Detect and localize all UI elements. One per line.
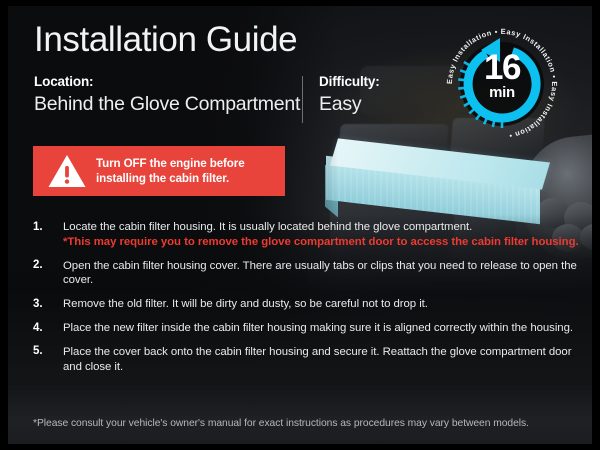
warning-line-2: installing the cabin filter. <box>96 171 245 186</box>
step-text: Locate the cabin filter housing. It is u… <box>63 220 579 235</box>
bottom-sheen <box>8 384 592 444</box>
installation-guide-infographic: Installation Guide Location: Behind the … <box>0 0 600 450</box>
difficulty-value: Easy <box>319 93 380 116</box>
badge-duration-value: 16 <box>440 52 564 84</box>
infographic-canvas: Installation Guide Location: Behind the … <box>8 6 592 444</box>
meta-divider <box>302 76 303 123</box>
instruction-step: 1.Locate the cabin filter housing. It is… <box>33 220 579 250</box>
difficulty-block: Difficulty: Easy <box>319 74 380 116</box>
instruction-step: 5.Place the cover back onto the cabin fi… <box>33 345 579 375</box>
instruction-step: 3.Remove the old filter. It will be dirt… <box>33 297 579 312</box>
step-number: 3. <box>33 297 63 312</box>
header-meta: Location: Behind the Glove Compartment D… <box>34 74 380 123</box>
badge-duration-unit: min <box>440 85 564 100</box>
instruction-steps: 1.Locate the cabin filter housing. It is… <box>33 220 579 384</box>
step-body: Open the cabin filter housing cover. The… <box>63 259 579 289</box>
footer-disclaimer: *Please consult your vehicle's owner's m… <box>33 418 579 429</box>
warning-text: Turn OFF the engine before installing th… <box>96 156 245 187</box>
difficulty-label: Difficulty: <box>319 74 380 89</box>
warning-banner: Turn OFF the engine before installing th… <box>33 146 285 196</box>
step-body: Locate the cabin filter housing. It is u… <box>63 220 579 250</box>
warning-triangle-icon <box>47 153 87 189</box>
step-number: 1. <box>33 220 63 250</box>
location-value: Behind the Glove Compartment <box>34 93 302 116</box>
instruction-step: 2.Open the cabin filter housing cover. T… <box>33 259 579 289</box>
page-header: Installation Guide <box>34 22 334 59</box>
step-number: 2. <box>33 259 63 289</box>
badge-center: 16 min <box>440 52 564 100</box>
step-note: *This may require you to remove the glov… <box>63 235 579 250</box>
step-number: 4. <box>33 321 63 336</box>
location-block: Location: Behind the Glove Compartment <box>34 74 302 116</box>
step-text: Open the cabin filter housing cover. The… <box>63 259 579 289</box>
step-text: Remove the old filter. It will be dirty … <box>63 297 579 312</box>
location-label: Location: <box>34 74 302 89</box>
time-badge: Easy Installation • Easy Installation • … <box>440 22 564 146</box>
step-body: Place the cover back onto the cabin filt… <box>63 345 579 375</box>
step-number: 5. <box>33 345 63 375</box>
warning-line-1: Turn OFF the engine before <box>96 156 245 171</box>
step-body: Remove the old filter. It will be dirty … <box>63 297 579 312</box>
page-title: Installation Guide <box>34 22 334 59</box>
step-text: Place the cover back onto the cabin filt… <box>63 345 579 375</box>
step-text: Place the new filter inside the cabin fi… <box>63 321 579 336</box>
step-body: Place the new filter inside the cabin fi… <box>63 321 579 336</box>
instruction-step: 4.Place the new filter inside the cabin … <box>33 321 579 336</box>
